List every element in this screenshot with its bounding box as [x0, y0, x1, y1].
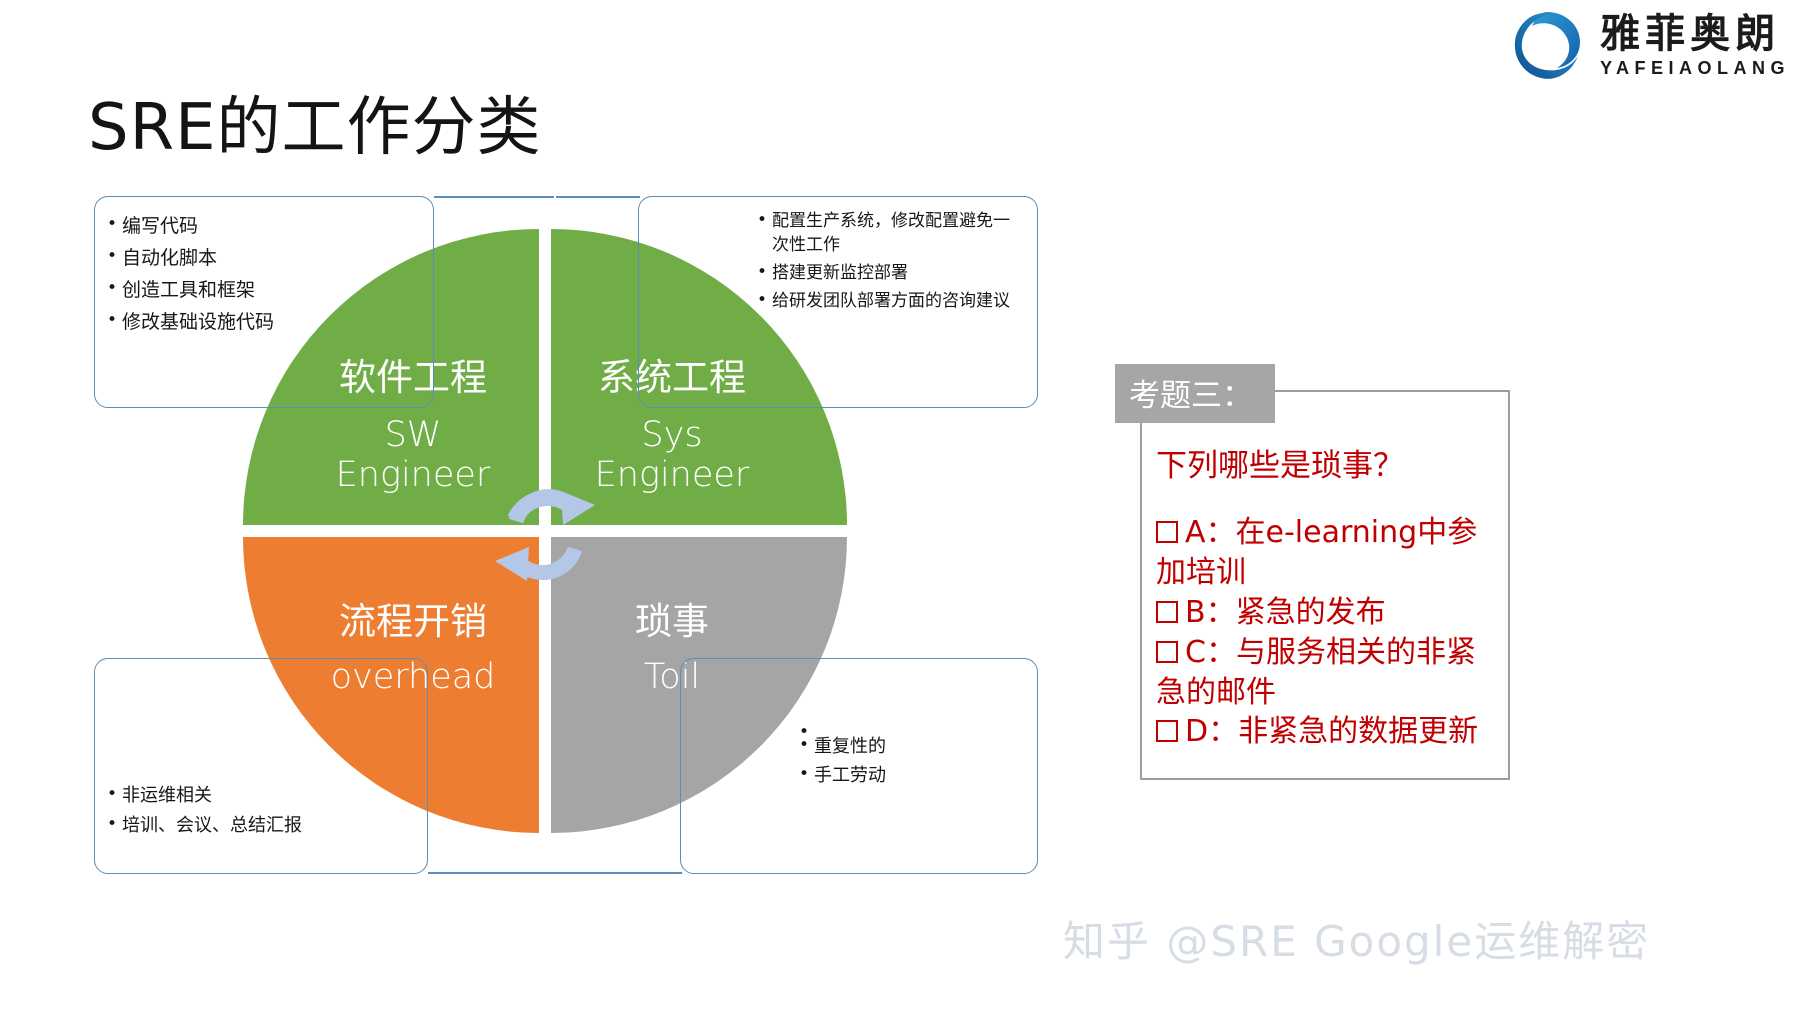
- quiz-question: 下列哪些是琐事？: [1156, 440, 1496, 485]
- list-item: 给研发团队部署方面的咨询建议: [757, 289, 1025, 313]
- callout-list: 重复性的 手工劳动: [681, 659, 1037, 788]
- logo-text-cn: 雅菲奥朗: [1600, 14, 1790, 54]
- quiz-option-a[interactable]: A：在e-learning中参加培训: [1156, 513, 1496, 593]
- list-item: 创造工具和框架: [107, 277, 433, 304]
- quiz-panel: 考题三： 下列哪些是琐事？ A：在e-learning中参加培训 B：紧急的发布…: [1140, 390, 1510, 780]
- list-item: [799, 721, 1037, 731]
- logo-text-en: YAFEIAOLANG: [1600, 59, 1790, 77]
- callout-software-engineering: 编写代码 自动化脚本 创造工具和框架 修改基础设施代码: [94, 196, 434, 408]
- quadrant-label-en-line1: Sys: [641, 415, 702, 455]
- callout-toil: 重复性的 手工劳动: [680, 658, 1038, 874]
- quiz-option-d[interactable]: D：非紧急的数据更新: [1156, 712, 1496, 752]
- quiz-option-label: A：在e-learning中参加培训: [1156, 515, 1477, 590]
- quiz-body: 下列哪些是琐事？ A：在e-learning中参加培训 B：紧急的发布 C：与服…: [1142, 392, 1508, 752]
- callout-list: 非运维相关 培训、会议、总结汇报: [95, 659, 427, 838]
- quiz-option-label: B：紧急的发布: [1185, 595, 1386, 630]
- checkbox-icon[interactable]: [1156, 521, 1178, 543]
- quadrant-label-en-sw: SW Engineer: [279, 415, 547, 495]
- quadrant-label-en-line2: Engineer: [336, 455, 491, 495]
- page-title: SRE的工作分类: [88, 76, 542, 168]
- list-item: 修改基础设施代码: [107, 309, 433, 336]
- list-item: 重复性的: [799, 734, 1037, 760]
- watermark: 知乎 @SRE Google运维解密: [1063, 908, 1650, 969]
- leader-line-bottom-left: [428, 872, 548, 874]
- leader-line-top-left: [434, 196, 554, 198]
- quiz-option-b[interactable]: B：紧急的发布: [1156, 593, 1496, 633]
- callout-list: 编写代码 自动化脚本 创造工具和框架 修改基础设施代码: [95, 197, 433, 336]
- list-item: 搭建更新监控部署: [757, 261, 1025, 285]
- quadrant-label-en-line1: SW: [385, 415, 442, 455]
- checkbox-icon[interactable]: [1156, 641, 1178, 663]
- list-item: 手工劳动: [799, 763, 1037, 789]
- quadrant-label-cn: 琐事: [559, 591, 785, 645]
- quiz-option-label: D：非紧急的数据更新: [1185, 714, 1478, 749]
- list-item: 非运维相关: [107, 783, 427, 809]
- slide-canvas: 雅菲奥朗 YAFEIAOLANG SRE的工作分类 软件工程 SW Engine…: [0, 0, 1810, 1022]
- checkbox-icon[interactable]: [1156, 601, 1178, 623]
- checkbox-icon[interactable]: [1156, 720, 1178, 742]
- leader-line-bottom-right: [548, 872, 682, 874]
- list-item: 培训、会议、总结汇报: [107, 813, 427, 839]
- swoosh-logo-icon: [1508, 6, 1586, 84]
- quiz-option-c[interactable]: C：与服务相关的非紧急的邮件: [1156, 633, 1496, 713]
- list-item: 配置生产系统，修改配置避免一 次性工作: [757, 209, 1025, 257]
- quiz-option-label: C：与服务相关的非紧急的邮件: [1156, 635, 1476, 710]
- quadrant-label-en-sys: Sys Engineer: [559, 415, 785, 495]
- quiz-options-list: A：在e-learning中参加培训 B：紧急的发布 C：与服务相关的非紧急的邮…: [1156, 513, 1496, 752]
- list-item: 自动化脚本: [107, 245, 433, 272]
- brand-logo: 雅菲奥朗 YAFEIAOLANG: [1508, 6, 1790, 84]
- leader-line-top-right: [556, 196, 640, 198]
- quadrant-label-cn: 流程开销: [279, 591, 547, 645]
- callout-list: 配置生产系统，修改配置避免一 次性工作 搭建更新监控部署 给研发团队部署方面的咨…: [639, 197, 1037, 314]
- quiz-header: 考题三：: [1115, 364, 1275, 423]
- quadrant-label-en-line2: Engineer: [595, 455, 750, 495]
- callout-systems-engineering: 配置生产系统，修改配置避免一 次性工作 搭建更新监控部署 给研发团队部署方面的咨…: [638, 196, 1038, 408]
- list-item: 编写代码: [107, 213, 433, 240]
- callout-overhead: 非运维相关 培训、会议、总结汇报: [94, 658, 428, 874]
